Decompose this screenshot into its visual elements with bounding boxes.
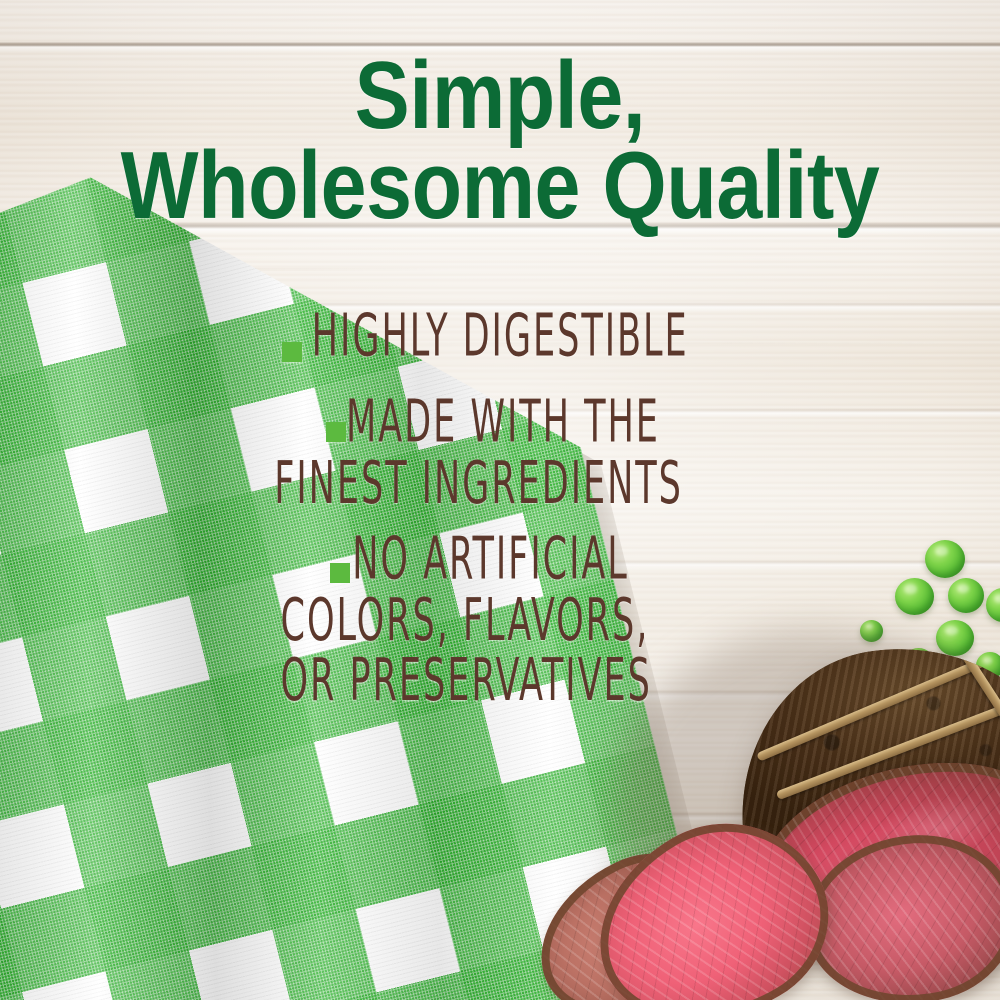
bullet-item-no-artificial: No Artificial Colors, Flavors, or Preser… <box>268 529 788 684</box>
bullet-2-line-1: Made with the <box>346 392 674 453</box>
pea-3 <box>948 578 984 613</box>
bullet-1-line-1: Highly Digestible <box>312 306 674 367</box>
feature-bullet-list: Highly Digestible Made with the Finest I… <box>268 306 788 683</box>
headline-line-1: Simple, <box>70 52 930 140</box>
pea-1 <box>925 540 965 578</box>
bullet-text-2: Made with the Finest Ingredients <box>268 392 674 514</box>
bullet-text-1: Highly Digestible <box>268 306 674 367</box>
headline: Simple, Wholesome Quality <box>0 52 1000 231</box>
bullet-3-line-2: Colors, Flavors, <box>280 589 673 650</box>
pea-2 <box>895 578 934 615</box>
headline-line-2: Wholesome Quality <box>70 142 930 230</box>
bullet-item-highly-digestible: Highly Digestible <box>268 306 788 358</box>
bullet-text-3: No Artificial Colors, Flavors, or Preser… <box>268 529 674 711</box>
bullet-item-finest-ingredients: Made with the Finest Ingredients <box>268 392 788 495</box>
bullet-2-line-2: Finest Ingredients <box>274 452 673 513</box>
product-feature-panel: Simple, Wholesome Quality Highly Digesti… <box>0 0 1000 1000</box>
bullet-3-line-3: or Preservatives <box>280 650 673 711</box>
bullet-3-line-1: No Artificial <box>352 529 673 590</box>
